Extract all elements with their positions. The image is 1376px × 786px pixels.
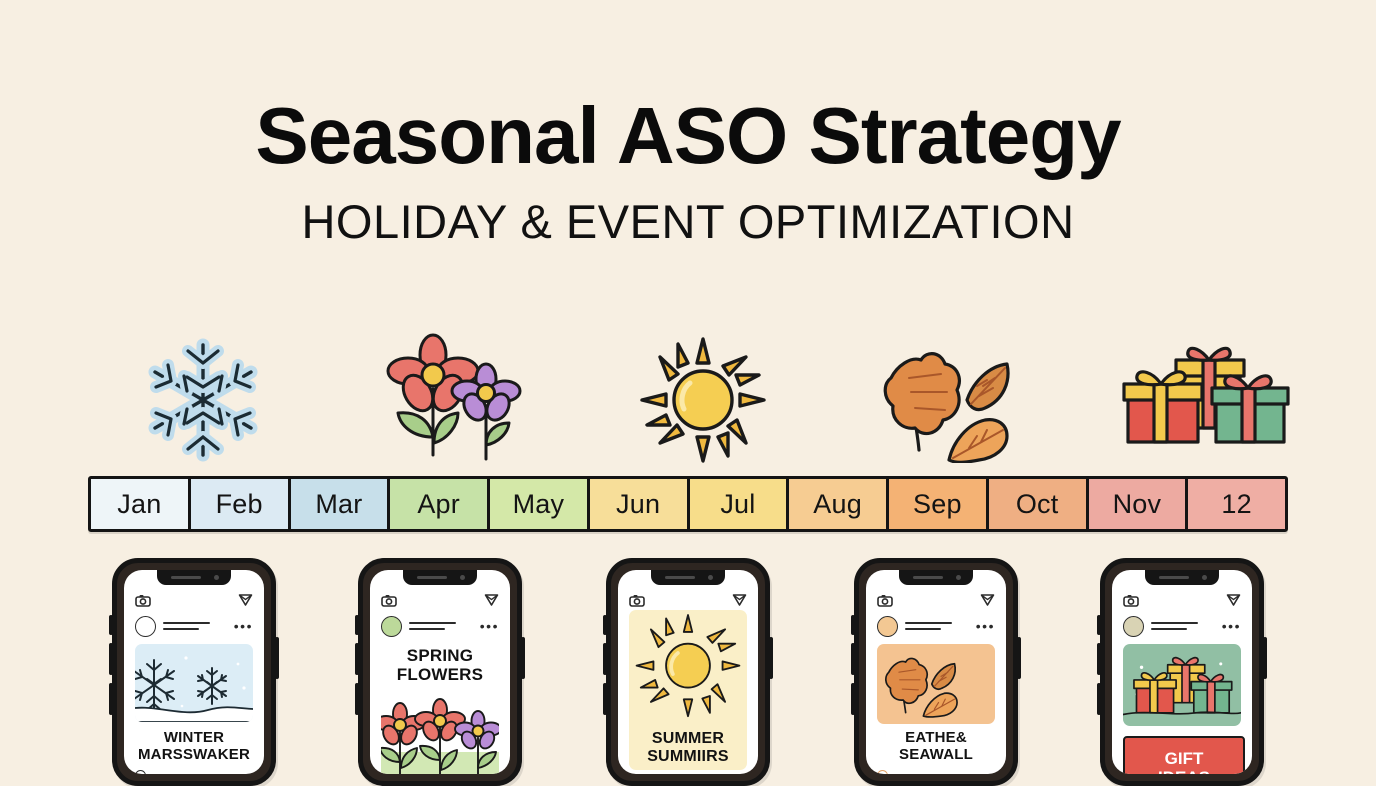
caption-line-1: WINTER	[130, 730, 258, 747]
phone-volume-down	[109, 683, 113, 715]
phone-power-button	[769, 637, 773, 679]
month-timeline[interactable]: Jan Feb Mar Apr May Jun Jul Aug Sep Oct …	[88, 476, 1288, 532]
bullet-dot	[135, 770, 146, 774]
phone-volume-up	[355, 643, 359, 675]
avatar	[1123, 616, 1144, 637]
phone-mute-switch	[109, 615, 113, 635]
front-camera	[460, 575, 465, 580]
post-meta-lines	[905, 622, 969, 631]
camera-icon[interactable]	[629, 594, 645, 607]
caption-line-1: EATHE&	[872, 730, 1000, 747]
earpiece-speaker	[171, 576, 201, 579]
phone-mockup-summer[interactable]: SUMMER SUMMIIRS	[606, 558, 770, 786]
post-caption-autumn: EATHE& SEAWALL	[872, 730, 1000, 764]
phone-volume-down	[355, 683, 359, 715]
phone-power-button	[1263, 637, 1267, 679]
send-icon[interactable]	[1226, 593, 1241, 607]
timeline-month-jan[interactable]: Jan	[91, 479, 191, 529]
more-options-icon[interactable]: •••	[234, 622, 253, 630]
post-bullets	[135, 770, 253, 774]
post-header: •••	[866, 614, 1006, 638]
send-icon[interactable]	[484, 593, 499, 607]
earpiece-speaker	[665, 576, 695, 579]
caption-line-1: SUMMER	[624, 730, 752, 748]
front-camera	[708, 575, 713, 580]
phone-volume-up	[1097, 643, 1101, 675]
timeline-month-dec[interactable]: 12	[1188, 479, 1285, 529]
timeline-month-mar[interactable]: Mar	[291, 479, 391, 529]
front-camera	[214, 575, 219, 580]
camera-icon[interactable]	[877, 594, 893, 607]
phone-mockup-row: •••	[0, 558, 1376, 768]
gift-ideas-cta-button[interactable]: GIFT IDEAS	[1123, 736, 1245, 774]
sun-icon	[618, 330, 788, 470]
phone-volume-up	[851, 643, 855, 675]
app-top-bar	[370, 590, 510, 610]
phone-screen-autumn: •••	[866, 570, 1006, 774]
avatar	[381, 616, 402, 637]
earpiece-speaker	[913, 576, 943, 579]
phone-screen-spring: ••• SPRING FLOWERS	[370, 570, 510, 774]
phone-notch	[403, 570, 477, 585]
front-camera	[1202, 575, 1207, 580]
post-meta-lines	[163, 622, 227, 631]
caption-line-1: SPRING	[376, 646, 504, 665]
send-icon[interactable]	[238, 593, 253, 607]
phone-mute-switch	[1097, 615, 1101, 635]
timeline-month-nov[interactable]: Nov	[1089, 479, 1189, 529]
camera-icon[interactable]	[381, 594, 397, 607]
phone-volume-down	[1097, 683, 1101, 715]
poster-canvas: Seasonal ASO Strategy HOLIDAY & EVENT OP…	[0, 0, 1376, 768]
caption-line-2: FLOWERS	[376, 665, 504, 684]
poster-header: Seasonal ASO Strategy HOLIDAY & EVENT OP…	[0, 0, 1376, 245]
phone-volume-down	[603, 683, 607, 715]
timeline-month-sep[interactable]: Sep	[889, 479, 989, 529]
caption-line-2: MARSSWAKER	[130, 747, 258, 764]
phone-mockup-holiday[interactable]: •••	[1100, 558, 1264, 786]
phone-mute-switch	[851, 615, 855, 635]
phone-notch	[899, 570, 973, 585]
post-media-spring	[381, 698, 499, 774]
caption-line-2: SUMMIIRS	[624, 748, 752, 766]
cta-line-1: GIFT	[1158, 750, 1210, 769]
timeline-month-may[interactable]: May	[490, 479, 590, 529]
season-icon-row	[88, 330, 1288, 470]
post-caption-summer: SUMMER SUMMIIRS	[624, 730, 752, 766]
snowflake-icon	[118, 330, 288, 470]
post-header: •••	[1112, 614, 1252, 638]
phone-mockup-autumn[interactable]: •••	[854, 558, 1018, 786]
earpiece-speaker	[1159, 576, 1189, 579]
phone-screen-winter: •••	[124, 570, 264, 774]
timeline-month-oct[interactable]: Oct	[989, 479, 1089, 529]
phone-power-button	[1017, 637, 1021, 679]
avatar	[877, 616, 898, 637]
post-meta-lines	[1151, 622, 1215, 631]
post-media-holiday	[1123, 644, 1241, 726]
post-media-winter	[135, 644, 253, 722]
phone-mockup-winter[interactable]: •••	[112, 558, 276, 786]
post-caption-winter: WINTER MARSSWAKER	[130, 730, 258, 764]
send-icon[interactable]	[732, 593, 747, 607]
app-top-bar	[866, 590, 1006, 610]
app-top-bar	[124, 590, 264, 610]
post-header: •••	[124, 614, 264, 638]
leaves-icon	[866, 330, 1036, 470]
phone-mute-switch	[603, 615, 607, 635]
app-top-bar	[618, 590, 758, 610]
post-caption-spring: SPRING FLOWERS	[376, 646, 504, 684]
page-title: Seasonal ASO Strategy	[0, 0, 1376, 176]
gifts-icon	[1108, 330, 1298, 470]
timeline-month-apr[interactable]: Apr	[390, 479, 490, 529]
phone-notch	[157, 570, 231, 585]
phone-notch	[651, 570, 725, 585]
camera-icon[interactable]	[135, 594, 151, 607]
page-subtitle: HOLIDAY & EVENT OPTIMIZATION	[0, 176, 1376, 245]
timeline-month-jun[interactable]: Jun	[590, 479, 690, 529]
more-options-icon[interactable]: •••	[480, 622, 499, 630]
phone-screen-holiday: •••	[1112, 570, 1252, 774]
phone-screen-summer: SUMMER SUMMIIRS	[618, 570, 758, 774]
app-top-bar	[1112, 590, 1252, 610]
timeline-month-aug[interactable]: Aug	[789, 479, 889, 529]
more-options-icon[interactable]: •••	[976, 622, 995, 630]
phone-mockup-spring[interactable]: ••• SPRING FLOWERS	[358, 558, 522, 786]
earpiece-speaker	[417, 576, 447, 579]
phone-volume-down	[851, 683, 855, 715]
camera-icon[interactable]	[1123, 594, 1139, 607]
more-options-icon[interactable]: •••	[1222, 622, 1241, 630]
phone-mute-switch	[355, 615, 359, 635]
phone-power-button	[275, 637, 279, 679]
timeline-month-jul[interactable]: Jul	[690, 479, 790, 529]
front-camera	[956, 575, 961, 580]
bullet-dot	[877, 770, 888, 774]
send-icon[interactable]	[980, 593, 995, 607]
post-meta-lines	[409, 622, 473, 631]
flowers-icon	[368, 330, 538, 470]
post-bullets	[877, 770, 995, 774]
phone-power-button	[521, 637, 525, 679]
phone-volume-up	[603, 643, 607, 675]
caption-line-2: SEAWALL	[872, 747, 1000, 764]
cta-line-2: IDEAS	[1158, 769, 1210, 774]
post-header: •••	[370, 614, 510, 638]
timeline-month-feb[interactable]: Feb	[191, 479, 291, 529]
avatar	[135, 616, 156, 637]
phone-volume-up	[109, 643, 113, 675]
post-media-autumn	[877, 644, 995, 724]
phone-notch	[1145, 570, 1219, 585]
